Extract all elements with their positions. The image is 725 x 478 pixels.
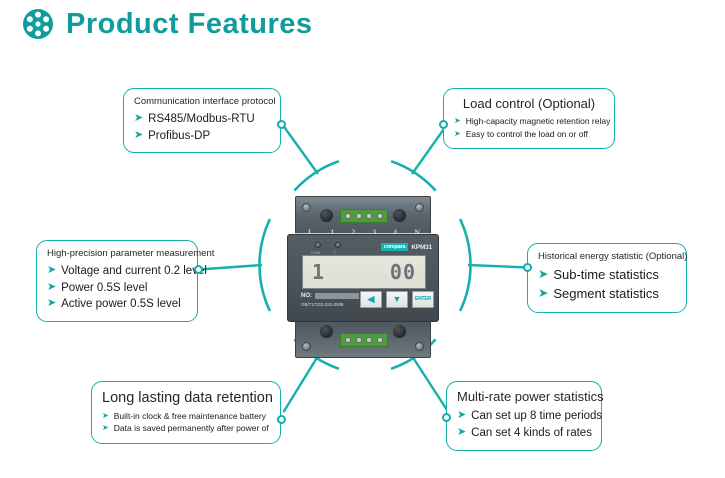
green-terminal-connector — [340, 333, 388, 347]
serial-number-blank-field — [315, 293, 359, 299]
list-item-label: Profibus-DP — [148, 128, 210, 145]
led-label-pulse: ⎍ — [333, 249, 336, 254]
spoke-historical — [468, 265, 528, 268]
spoke-load-control — [412, 126, 446, 174]
arrow-bullet-icon: ➤ — [457, 410, 466, 421]
list-item-label: Power 0.5S level — [61, 280, 147, 297]
arrow-bullet-icon: ➤ — [102, 424, 109, 432]
list-item-label: Active power 0.5S level — [61, 296, 181, 313]
list-item: ➤ Easy to control the load on or off — [454, 128, 604, 140]
serial-number-label: NO: — [301, 293, 312, 299]
page-title: Product Features — [66, 10, 313, 39]
list-item: ➤ Active power 0.5S level — [47, 296, 187, 313]
button-left[interactable]: ◀ — [360, 291, 382, 308]
cluster-dots-icon — [22, 8, 54, 40]
list-item: ➤ Can set up 8 time periods — [457, 408, 591, 425]
callout-data-retention[interactable]: Long lasting data retention ➤ Built-in c… — [91, 381, 281, 444]
callout-load-control[interactable]: Load control (Optional) ➤ High-capacity … — [443, 88, 615, 149]
screw-icon — [302, 342, 311, 351]
page-header: Product Features — [22, 8, 313, 40]
connector-knob-multirate — [442, 413, 451, 422]
list-item-label: Can set up 8 time periods — [471, 408, 602, 425]
connector-knob-communication — [277, 120, 286, 129]
callout-item-list: ➤ High-capacity magnetic retention relay… — [454, 115, 604, 140]
button-enter[interactable]: ENTER — [412, 291, 434, 308]
arrow-bullet-icon: ➤ — [454, 130, 461, 138]
standard-code-text: GB/T17215.322-2008 — [301, 302, 343, 307]
model-number: KPM31 — [411, 244, 432, 251]
list-item-label: Can set 4 kinds of rates — [471, 425, 592, 442]
callout-item-list: ➤ Built-in clock & free maintenance batt… — [102, 410, 270, 435]
arrow-bullet-icon: ➤ — [47, 265, 56, 276]
callout-title: Communication interface protocol — [134, 96, 270, 108]
callout-multirate-statistics[interactable]: Multi-rate power statistics ➤ Can set up… — [446, 381, 602, 451]
connector-knob-retention — [277, 415, 286, 424]
list-item: ➤ Segment statistics — [538, 285, 676, 304]
list-item: ➤ Power 0.5S level — [47, 280, 187, 297]
callout-communication-protocol[interactable]: Communication interface protocol ➤ RS485… — [123, 88, 281, 153]
energy-meter-device-image: L 1 2 3 4 N COM ⎍ compara KPM31 1 00 — [287, 196, 439, 358]
connector-knob-load-control — [439, 120, 448, 129]
terminal-hole — [393, 325, 406, 338]
spoke-precision — [199, 265, 262, 270]
list-item-label: Built-in clock & free maintenance batter… — [114, 410, 266, 422]
spoke-multirate — [412, 356, 447, 410]
ring-arc — [260, 219, 270, 311]
screw-icon — [302, 203, 311, 212]
screw-icon — [415, 203, 424, 212]
callout-item-list: ➤ Can set up 8 time periods ➤ Can set 4 … — [457, 408, 591, 441]
list-item: ➤ Data is saved permanently after power … — [102, 422, 270, 434]
brand-badge: compara — [381, 243, 409, 251]
callout-title: Load control (Optional) — [454, 96, 604, 112]
ring-arc — [391, 161, 436, 190]
arrow-bullet-icon: ➤ — [47, 282, 56, 293]
list-item-label: RS485/Modbus-RTU — [148, 111, 255, 128]
callout-historical-statistic[interactable]: Historical energy statistic (Optional) ➤… — [527, 243, 687, 313]
button-down[interactable]: ▼ — [386, 291, 408, 308]
list-item-label: Sub-time statistics — [553, 266, 658, 285]
list-item: ➤ Voltage and current 0.2 level — [47, 263, 187, 280]
terminal-hole — [320, 209, 333, 222]
screw-icon — [415, 342, 424, 351]
lcd-display: 1 00 — [302, 255, 426, 289]
list-item: ➤ RS485/Modbus-RTU — [134, 111, 270, 128]
callout-precision-measurement[interactable]: High-precision parameter measurement ➤ V… — [36, 240, 198, 322]
list-item-label: Easy to control the load on or off — [466, 128, 588, 140]
callout-title: Historical energy statistic (Optional) — [538, 251, 676, 263]
arrow-bullet-icon: ➤ — [538, 268, 548, 280]
arrow-bullet-icon: ➤ — [454, 117, 461, 125]
list-item-label: Segment statistics — [553, 285, 659, 304]
callout-title: Multi-rate power statistics — [457, 389, 591, 405]
terminal-hole — [320, 325, 333, 338]
list-item: ➤ Profibus-DP — [134, 128, 270, 145]
device-front-panel: COM ⎍ compara KPM31 1 00 NO: GB/T17215.3… — [287, 234, 439, 322]
list-item-label: High-capacity magnetic retention relay — [466, 115, 611, 127]
callout-item-list: ➤ Sub-time statistics ➤ Segment statisti… — [538, 266, 676, 304]
device-bottom-terminal-block — [295, 316, 431, 358]
arrow-bullet-icon: ➤ — [134, 113, 143, 124]
list-item: ➤ Sub-time statistics — [538, 266, 676, 285]
green-terminal-connector — [340, 209, 388, 223]
spoke-retention — [284, 356, 319, 412]
list-item: ➤ Built-in clock & free maintenance batt… — [102, 410, 270, 422]
device-branding: compara KPM31 — [381, 243, 432, 251]
lcd-value-left: 1 — [312, 262, 325, 282]
list-item-label: Voltage and current 0.2 level — [61, 263, 207, 280]
callout-title: Long lasting data retention — [102, 389, 270, 407]
spoke-communication — [284, 126, 319, 174]
arrow-bullet-icon: ➤ — [457, 427, 466, 438]
list-item: ➤ High-capacity magnetic retention relay — [454, 115, 604, 127]
list-item-label: Data is saved permanently after power of — [114, 422, 269, 434]
arrow-bullet-icon: ➤ — [134, 130, 143, 141]
status-led-pulse — [335, 242, 341, 248]
callout-item-list: ➤ Voltage and current 0.2 level ➤ Power … — [47, 263, 187, 313]
status-led-com — [315, 242, 321, 248]
arrow-bullet-icon: ➤ — [102, 412, 109, 420]
ring-arc — [294, 161, 339, 190]
serial-number-row: NO: — [301, 293, 359, 299]
connector-knob-historical — [523, 263, 532, 272]
connector-knob-precision — [194, 265, 203, 274]
callout-item-list: ➤ RS485/Modbus-RTU ➤ Profibus-DP — [134, 111, 270, 144]
terminal-hole — [393, 209, 406, 222]
callout-title: High-precision parameter measurement — [47, 248, 187, 260]
arrow-bullet-icon: ➤ — [47, 298, 56, 309]
arrow-bullet-icon: ➤ — [538, 287, 548, 299]
ring-arc — [460, 219, 470, 311]
list-item: ➤ Can set 4 kinds of rates — [457, 425, 591, 442]
lcd-value-right: 00 — [390, 262, 416, 282]
